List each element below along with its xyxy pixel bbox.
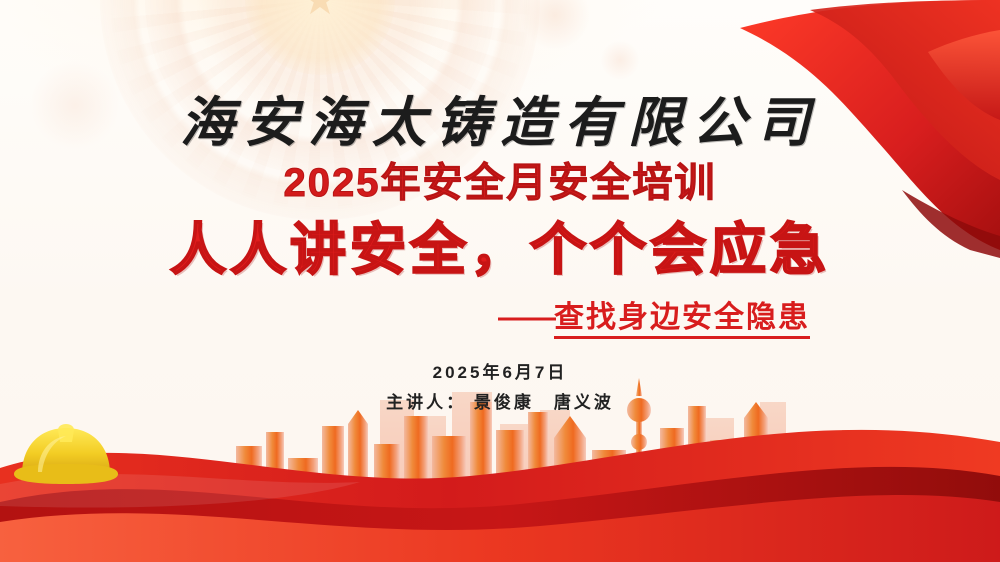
tagline: ——查找身边安全隐患	[498, 292, 810, 336]
presentation-date: 2025年6月7日	[0, 358, 1000, 383]
presentation-slide: ★	[0, 0, 1000, 562]
tagline-text: 查找身边安全隐患	[554, 301, 810, 339]
title-block: 海安海太铸造有限公司 2025年安全月安全培训 人人讲安全，个个会应急 ——查找…	[0, 0, 1000, 562]
company-name: 海安海太铸造有限公司	[0, 78, 1000, 157]
main-slogan: 人人讲安全，个个会应急	[0, 205, 1000, 286]
tagline-dash: ——	[498, 301, 554, 334]
speaker-names: 主讲人： 景俊康 唐义波	[0, 388, 1000, 413]
training-subtitle: 2025年安全月安全培训	[0, 150, 1000, 208]
